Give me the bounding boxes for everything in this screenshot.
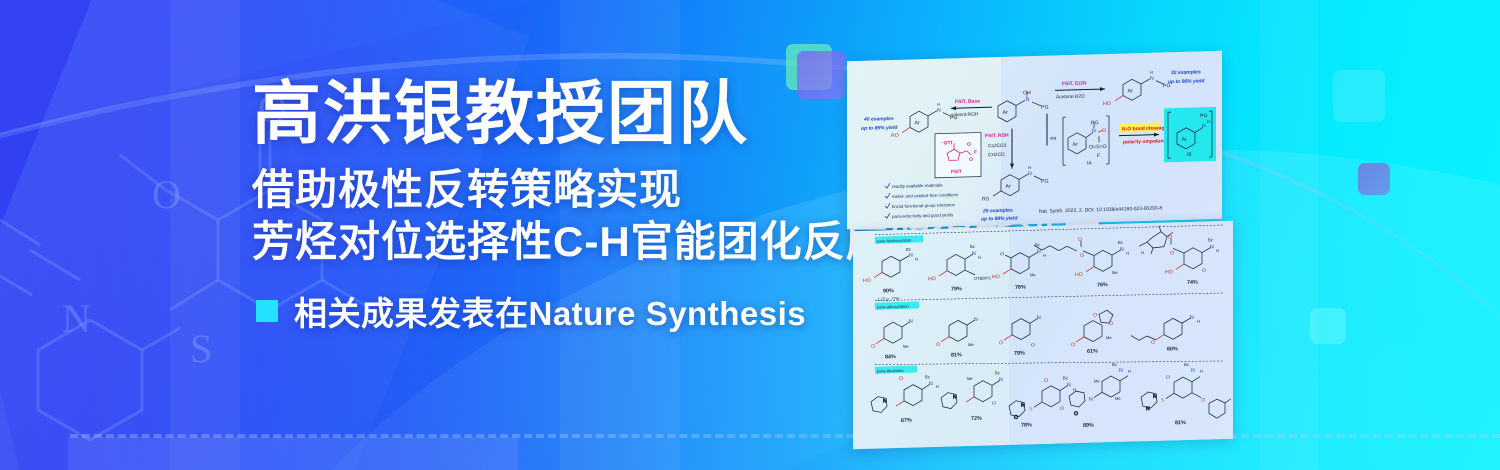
- svg-text:Me: Me: [903, 344, 909, 349]
- svg-text:HO: HO: [928, 276, 936, 282]
- svg-text:O: O: [1078, 237, 1082, 243]
- left-product-ar: Ar: [915, 120, 920, 126]
- svg-text:Bz: Bz: [1184, 362, 1189, 367]
- scope-svg: para-hydroxylation N Bz H HO 90% 1.15 g,…: [853, 221, 1233, 450]
- right-reaction: FSIT, Et3N Acetone:H2O Ar N H PG HO 32 e…: [1055, 68, 1205, 108]
- svg-text:N: N: [1021, 403, 1025, 409]
- svg-text:H: H: [1128, 369, 1131, 374]
- ib-tag: IB: [1187, 152, 1192, 158]
- mechanism-intermediate-b: N-O bond cleavage polarity umpolung Ar N…: [1119, 107, 1216, 164]
- tagline-text: 相关成果发表在Nature Synthesis: [294, 287, 806, 335]
- highlight-item-1: readily available materials: [885, 182, 943, 190]
- svg-text:Cl: Cl: [1031, 342, 1035, 347]
- svg-text:N: N: [1210, 244, 1214, 250]
- svg-text:OTBDPS: OTBDPS: [974, 275, 991, 280]
- research-figure: Ar N OH PG FSIT, Base solvent:ROH Ar: [845, 26, 1245, 444]
- svg-text:O: O: [1080, 253, 1084, 259]
- figure-panel-scheme: Ar N OH PG FSIT, Base solvent:ROH Ar: [847, 51, 1222, 229]
- highlight-text-3: broad functional group tolerance: [892, 202, 956, 209]
- svg-text:N: N: [1067, 382, 1071, 388]
- central-substrate: Ar N OH PG: [998, 90, 1048, 122]
- svg-text:Me: Me: [967, 376, 973, 381]
- square-violet-icon: [1358, 163, 1390, 195]
- svg-text:N: N: [929, 381, 933, 387]
- svg-text:Me: Me: [1106, 335, 1112, 340]
- square-bullet-icon: [256, 300, 278, 322]
- figure-panel-scope: para-hydroxylation N Bz H HO 90% 1.15 g,…: [853, 221, 1233, 450]
- yield-3-2: 72%: [971, 416, 982, 422]
- svg-text:Me: Me: [1115, 396, 1121, 401]
- svg-text:N: N: [1120, 247, 1124, 253]
- svg-text:Cl: Cl: [1060, 405, 1064, 410]
- scope-row-2: O N Me 84% O N Me 81%: [871, 308, 1200, 361]
- yield-3-5: 81%: [1175, 420, 1186, 426]
- down-product-rs: RS: [982, 196, 990, 202]
- scope-molecule-10: O N H 60%: [1131, 315, 1200, 354]
- left-examples-label: 40 examples: [863, 116, 894, 123]
- svg-text:Bz: Bz: [925, 374, 930, 379]
- svg-text:O: O: [1170, 250, 1174, 256]
- fsit-oh-label: ⁻OTf: [941, 140, 953, 146]
- left-product-n: N: [937, 108, 941, 114]
- svg-text:HO: HO: [863, 278, 871, 284]
- svg-text:Bz: Bz: [1112, 362, 1117, 367]
- svg-text:H: H: [1141, 250, 1144, 255]
- ia-pg-label: PG: [1091, 120, 1098, 126]
- square-cyan-large-icon: [1333, 70, 1385, 122]
- central-n-label: N: [1026, 97, 1030, 103]
- central-pg-label: PG: [1041, 105, 1048, 111]
- right-examples-label: 32 examples: [1171, 69, 1201, 76]
- svg-text:Bz: Bz: [906, 247, 911, 252]
- svg-text:O: O: [1071, 342, 1075, 348]
- ib-n-label: N: [1202, 123, 1206, 129]
- svg-text:N: N: [1146, 406, 1150, 412]
- right-yield-label: up to 96% yield: [1168, 78, 1205, 85]
- highlight-text-4: para-selectivity and good yields: [892, 212, 954, 219]
- highlight-text-2: metal- and oxidant-free conditions: [892, 192, 959, 199]
- right-product-ar: Ar: [1128, 88, 1133, 94]
- highlight-item-3: broad functional group tolerance: [885, 201, 956, 209]
- fsit-o-top: O: [967, 142, 971, 148]
- ia-f-label: F: [1097, 153, 1100, 159]
- right-product-ho: HO: [1103, 101, 1111, 107]
- svg-text:H: H: [1126, 251, 1129, 256]
- svg-text:Me: Me: [1112, 270, 1118, 275]
- scope-section-1: para-hydroxylation: [876, 238, 912, 244]
- mechanism-line-1: N-O bond cleavage: [1122, 125, 1167, 132]
- svg-text:Bz: Bz: [1208, 237, 1213, 242]
- svg-text:N: N: [1037, 249, 1041, 255]
- bottom-accent-plate: [68, 437, 518, 470]
- scope-section-2: para-alkoxylation: [876, 304, 909, 310]
- ia-o-label: O: [1102, 128, 1106, 134]
- yield-1-2: 79%: [951, 286, 962, 292]
- banner-container: O O N S 高洪银教授团队 借助极性反转策略实现 芳烃对位选择性C-H官能团…: [0, 0, 1500, 470]
- svg-text:Cl: Cl: [992, 400, 996, 405]
- yield-2-3: 79%: [1014, 351, 1025, 357]
- svg-text:O: O: [1014, 415, 1018, 421]
- yield-3-3: 78%: [1021, 422, 1032, 428]
- scope-molecule-8: O N Cl 79%: [999, 315, 1041, 357]
- fsit-o-bottom: O: [969, 157, 973, 163]
- ia-tag: IA: [1087, 160, 1092, 166]
- svg-text:HO: HO: [1165, 269, 1173, 275]
- svg-text:Bz: Bz: [970, 244, 975, 249]
- svg-text:O: O: [1074, 411, 1078, 417]
- svg-text:N: N: [1190, 315, 1194, 321]
- svg-text:H: H: [978, 255, 981, 260]
- svg-text:H: H: [936, 384, 939, 389]
- svg-text:H: H: [915, 256, 918, 261]
- down-product-ar: Ar: [1006, 184, 1011, 190]
- yield-3-1: 67%: [901, 418, 912, 424]
- mechanism-line-2: polarity umpolung: [1123, 138, 1167, 145]
- scope-section-3: para-thiolation: [876, 368, 904, 374]
- left-product-ro: RO: [891, 133, 899, 139]
- citation-text: Nat. Synth. 2023, 2, DOI: 10.1038/s44160…: [1039, 205, 1162, 214]
- scope-molecule-7: O N Me 81%: [936, 317, 978, 359]
- yield-2-2: 81%: [951, 352, 962, 358]
- scope-molecule-1: N Bz H HO 90% 1.15 g, 77%: [863, 246, 918, 302]
- svg-text:N: N: [953, 394, 957, 400]
- svg-text:N: N: [1191, 368, 1195, 374]
- svg-text:H: H: [1200, 369, 1203, 374]
- background-stripe-3: [1260, 0, 1318, 470]
- ia-so2-label: O=S=O: [1089, 144, 1107, 150]
- yield-1-5: 74%: [1187, 280, 1198, 286]
- svg-text:HO: HO: [1075, 272, 1083, 278]
- yield-2-4: 61%: [1087, 348, 1098, 354]
- svg-text:S: S: [1161, 398, 1165, 404]
- down-arrow-line3: CH2Cl2: [988, 152, 1005, 158]
- svg-text:N: N: [909, 253, 913, 259]
- highlight-item-2: metal- and oxidant-free conditions: [885, 191, 959, 199]
- highlights-list: readily available materials metal- and o…: [885, 181, 959, 219]
- scope-molecule-15: N Bz H S N N Cl O: [1141, 361, 1231, 428]
- svg-text:O: O: [1109, 321, 1113, 327]
- via-label: via: [1050, 135, 1056, 141]
- svg-text:S: S: [1029, 406, 1033, 412]
- yield-2-5: 60%: [1167, 346, 1178, 352]
- down-product-pg: PG: [1041, 179, 1048, 185]
- svg-text:N: N: [999, 377, 1003, 383]
- down-examples-label: 25 examples: [982, 208, 1013, 215]
- svg-text:O: O: [1044, 378, 1048, 384]
- svg-text:Cl: Cl: [1202, 267, 1206, 272]
- svg-text:N: N: [909, 319, 913, 325]
- yield-1-4: 76%: [1097, 282, 1108, 288]
- svg-text:O: O: [999, 340, 1003, 346]
- yield-1-3: 76%: [1015, 284, 1026, 290]
- scope-molecule-13: N Bz H S N O Cl O 78%: [1009, 375, 1076, 429]
- svg-text:O: O: [936, 342, 940, 348]
- yield-1-1: 90%: [883, 288, 894, 294]
- ia-n-label: N: [1092, 128, 1096, 134]
- svg-text:O: O: [1201, 397, 1205, 403]
- scope-molecule-2: N Bz H HO OTBDPS 79%: [928, 243, 991, 293]
- svg-text:N: N: [1119, 368, 1123, 374]
- svg-text:N: N: [1037, 315, 1041, 321]
- svg-text:N: N: [1089, 397, 1093, 403]
- scope-molecule-4: N Bz H HO Me O O 76%: [1034, 236, 1129, 291]
- svg-text:O: O: [1151, 340, 1155, 346]
- ib-h-label: H: [1207, 119, 1210, 124]
- svg-text:N: N: [972, 251, 976, 257]
- square-cyan-small-icon: [1310, 308, 1346, 344]
- svg-text:Cl: Cl: [1000, 251, 1004, 256]
- left-arrow-top-label: FSIT, Base: [955, 99, 980, 106]
- left-yield-label: up to 85% yield: [861, 125, 898, 132]
- svg-text:O: O: [1093, 312, 1097, 318]
- svg-text:Cl: Cl: [1166, 374, 1170, 379]
- svg-text:H: H: [1197, 319, 1200, 324]
- left-product-pg: PG: [950, 115, 957, 121]
- svg-text:Me: Me: [968, 342, 974, 347]
- scope-molecule-12: N Bz N Cl Me 72%: [941, 370, 1003, 423]
- yield-3-4: 89%: [1083, 423, 1094, 429]
- svg-text:O: O: [871, 344, 875, 350]
- ia-ar-label: Ar: [1073, 142, 1078, 148]
- fsit-box-label: FSIT: [951, 169, 962, 175]
- scope-molecule-3: N Bz H HO Cl Me 76%: [992, 242, 1046, 292]
- down-product-h: H: [1028, 165, 1031, 170]
- svg-text:H: H: [1216, 248, 1219, 253]
- scope-molecule-5: N Bz H HO Cl O O: [1139, 224, 1219, 287]
- central-ar-label: Ar: [1003, 110, 1008, 116]
- down-arrow-line2: Cs2CO3: [988, 143, 1007, 150]
- scope-row-3: N Bz H N O 67% N: [871, 359, 1231, 435]
- svg-text:Bz: Bz: [995, 370, 1000, 375]
- right-product-n: N: [1150, 76, 1154, 82]
- scope-molecule-9: O O O Me 61%: [1071, 310, 1113, 355]
- svg-text:Bz: Bz: [1118, 240, 1123, 245]
- right-arrow-bottom-label: Acetone:H2O: [1056, 94, 1085, 101]
- left-product-h: H: [937, 102, 940, 107]
- right-product-h: H: [1150, 70, 1153, 75]
- down-arrow-line1: FSIT, RSH: [985, 133, 1009, 140]
- svg-text:N: N: [883, 398, 887, 404]
- highlight-text-1: readily available materials: [892, 183, 943, 189]
- scope-molecule-6: O N Me 84%: [871, 319, 913, 361]
- fsit-reagent-box: ⁻OTf O O F FSIT: [935, 132, 981, 177]
- svg-text:Bz: Bz: [1063, 375, 1068, 380]
- svg-text:Me: Me: [1030, 272, 1036, 277]
- down-product-n: N: [1028, 171, 1032, 177]
- yield-2-1: 84%: [885, 354, 896, 360]
- fsit-f-label: F: [974, 150, 977, 156]
- down-yield-label: up to 89% yield: [981, 215, 1018, 222]
- scope-molecule-11: N Bz H N O 67%: [871, 374, 939, 425]
- right-arrow-top-label: FSIT, Et3N: [1062, 81, 1087, 88]
- svg-text:Me: Me: [1094, 378, 1100, 383]
- scope-molecule-14: N Bz H N O Me Me 89%: [1069, 362, 1131, 430]
- svg-text:N: N: [974, 317, 978, 323]
- background-stripe-1: [170, 0, 240, 470]
- svg-text:N: N: [1153, 394, 1157, 400]
- svg-text:HO: HO: [992, 274, 1000, 280]
- scheme-svg: Ar N OH PG FSIT, Base solvent:ROH Ar: [847, 51, 1222, 229]
- ib-ar-label: Ar: [1182, 137, 1187, 143]
- mechanism-intermediate-a: via Ar N PG O O=S=O F IA: [1047, 112, 1109, 168]
- svg-text:H: H: [1043, 253, 1046, 258]
- svg-text:O: O: [899, 376, 903, 382]
- highlight-item-4: para-selectivity and good yields: [885, 211, 954, 219]
